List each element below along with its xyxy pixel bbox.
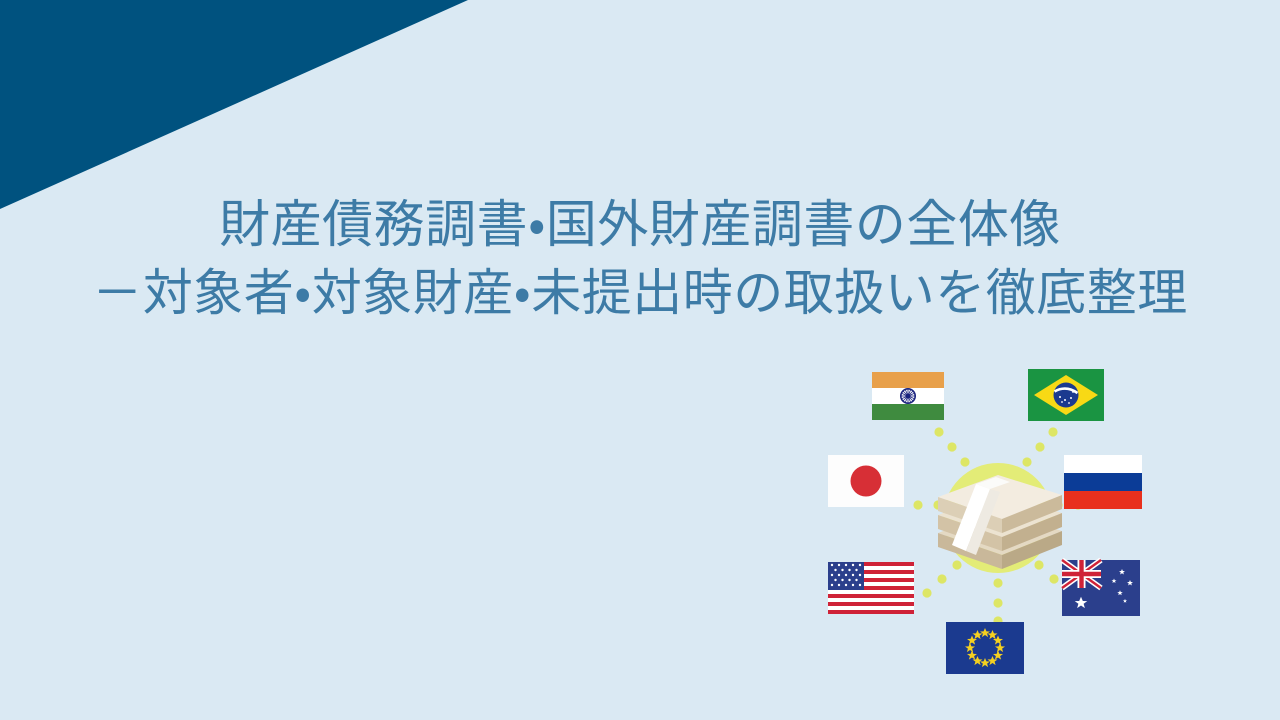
flag-australia <box>1062 560 1140 616</box>
flag-usa <box>828 562 914 614</box>
flag-brazil <box>1028 369 1104 421</box>
title-line-1: 財産債務調書・国外財産調書の全体像 <box>0 196 1280 256</box>
corner-accent-wedge <box>0 0 480 220</box>
page-title: 財産債務調書・国外財産調書の全体像 －対象者・対象財産・未提出時の取扱いを徹底整… <box>0 196 1280 323</box>
money-bundle-icon <box>938 463 1062 573</box>
flag-russia <box>1064 455 1142 509</box>
flag-india <box>872 372 944 420</box>
flag-european-union <box>946 622 1024 674</box>
global-assets-illustration <box>800 355 1200 695</box>
slide-canvas: 財産債務調書・国外財産調書の全体像 －対象者・対象財産・未提出時の取扱いを徹底整… <box>0 0 1280 720</box>
title-line-2: －対象者・対象財産・未提出時の取扱いを徹底整理 <box>0 264 1280 323</box>
flag-japan <box>828 455 904 507</box>
